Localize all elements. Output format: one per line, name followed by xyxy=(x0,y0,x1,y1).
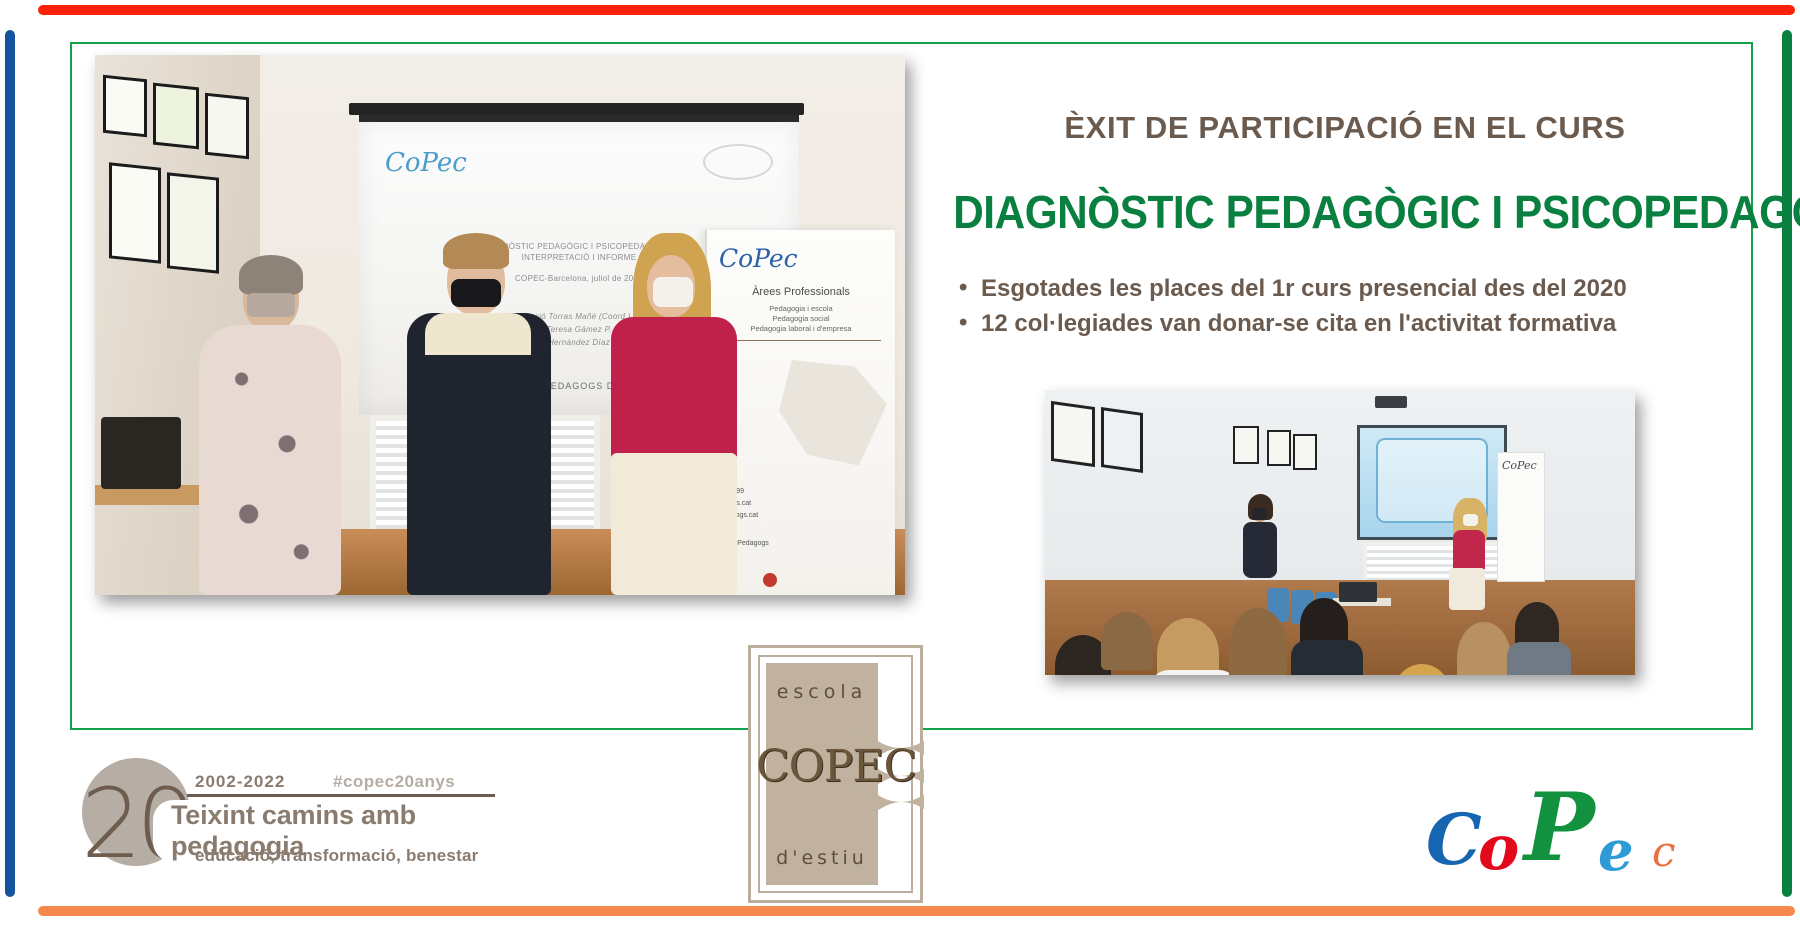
right-accent-rule xyxy=(1782,30,1792,897)
wall-frame xyxy=(1267,430,1291,466)
logo-copec-letter-c: C xyxy=(1426,805,1482,875)
projector xyxy=(1375,396,1407,408)
rollup-logo-text: CoPec xyxy=(719,244,798,273)
laptop xyxy=(1339,582,1377,602)
audience-photo: CoPec xyxy=(1045,390,1635,675)
logo-20-anys: 20 2002-2022 #copec20anys Teixint camins… xyxy=(75,758,495,880)
rollup-title: Àrees Professionals xyxy=(707,286,895,298)
screen-rail xyxy=(349,103,804,115)
wall-frame xyxy=(1051,401,1095,467)
logo-estiu-bottom-word: d'estiu xyxy=(766,847,878,869)
diploma-frame xyxy=(153,83,199,150)
logo-escola-estiu: escola COPEC d'estiu xyxy=(748,645,923,903)
screen-copec-logo: CoPec xyxy=(385,148,467,178)
diploma-frame xyxy=(205,93,249,160)
bag xyxy=(101,417,181,489)
logo-copec-letter-o: o xyxy=(1478,817,1519,879)
logo-copec-letter-c2: c xyxy=(1652,831,1676,873)
logo-20-hashtag: #copec20anys xyxy=(333,772,455,792)
catalonia-map xyxy=(779,360,887,470)
diploma-frame xyxy=(103,75,147,138)
page-title: DIAGNÒSTIC PEDAGÒGIC I PSICOPEDAGÒGIC xyxy=(953,185,1717,239)
logo-copec-letter-e: e xyxy=(1598,823,1634,879)
rollup-divider xyxy=(721,340,881,341)
wall-frame xyxy=(1293,434,1317,470)
left-accent-rule xyxy=(5,30,15,897)
logo-20-years: 2002-2022 xyxy=(195,772,285,792)
eyebrow-heading: ÈXIT DE PARTICIPACIÓ EN EL CURS xyxy=(950,110,1740,146)
diploma-frame xyxy=(109,162,161,263)
bottom-accent-rule xyxy=(38,906,1795,916)
logo-20-rule-top xyxy=(187,794,495,797)
slide-canvas: CoPec DIAGNÒSTIC PEDAGÒGIC I PSICOPEDAGÒ… xyxy=(0,0,1800,940)
audience-rollup-logo: CoPec xyxy=(1502,459,1537,472)
wall-frame xyxy=(1101,407,1143,473)
main-photo: CoPec DIAGNÒSTIC PEDAGÒGIC I PSICOPEDAGÒ… xyxy=(95,55,905,595)
logo-copec-letter-p: P xyxy=(1524,781,1595,875)
logo-copec-script: C o P e c xyxy=(1420,775,1740,895)
logo-estiu-top-word: escola xyxy=(766,681,878,703)
bullet-item: Esgotades les places del 1r curs presenc… xyxy=(955,272,1745,307)
screen-20-mark xyxy=(703,144,773,180)
wall-frame xyxy=(1233,426,1259,464)
decor-flower xyxy=(763,573,777,587)
logo-estiu-wordmark: COPEC xyxy=(756,741,916,792)
logo-20-subslogan: educació, transformació, benestar xyxy=(195,846,478,866)
bullet-list: Esgotades les places del 1r curs presenc… xyxy=(955,272,1745,342)
rollup-item: Pedagogia i escola xyxy=(707,304,895,313)
top-accent-rule xyxy=(38,5,1795,15)
audience-rollup: CoPec xyxy=(1497,452,1545,582)
screen-logo-text: CoPec xyxy=(385,148,467,178)
diploma-frame xyxy=(167,172,219,273)
rollup-item: Pedagogia social xyxy=(707,314,895,323)
bullet-item: 12 col·legiades van donar-se cita en l'a… xyxy=(955,307,1745,342)
